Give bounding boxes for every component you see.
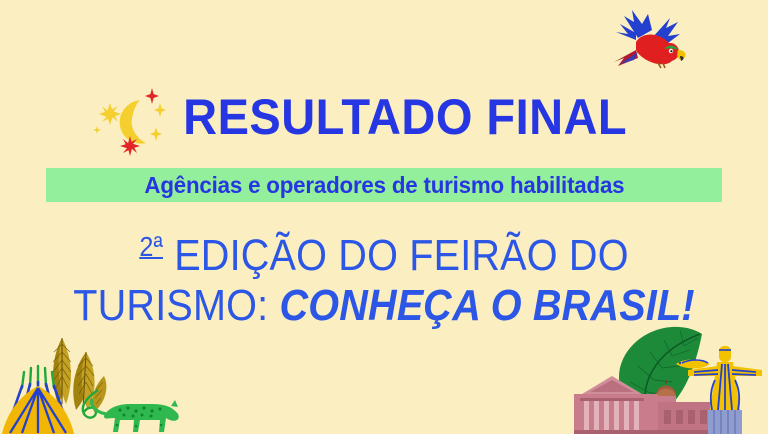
small-bird-icon bbox=[676, 360, 710, 369]
headline-line-2-plain: TURISMO: bbox=[73, 281, 279, 330]
teatro-amazonas-icon bbox=[574, 376, 710, 434]
headline: 2ª EDIÇÃO DO FEIRÃO DO TURISMO: CONHEÇA … bbox=[0, 222, 768, 331]
headline-ordinal: 2ª bbox=[139, 231, 163, 262]
poster-banner: RESULTADO FINAL Agências e operadores de… bbox=[0, 0, 768, 434]
headline-line-1-rest: EDIÇÃO DO FEIRÃO DO bbox=[163, 231, 629, 280]
macaw-icon bbox=[608, 8, 704, 80]
congress-building-icon bbox=[2, 366, 74, 434]
subtitle-text: Agências e operadores de turismo habilit… bbox=[144, 174, 624, 197]
jaguar-icon bbox=[92, 400, 179, 432]
page-title: RESULTADO FINAL bbox=[183, 92, 627, 142]
headline-emphasis: CONHEÇA O BRASIL! bbox=[280, 281, 695, 330]
tropical-leaf-icon bbox=[619, 327, 702, 415]
headline-line-1: 2ª EDIÇÃO DO FEIRÃO DO bbox=[38, 222, 729, 281]
headline-line-2: TURISMO: CONHEÇA O BRASIL! bbox=[38, 281, 729, 331]
title-row: RESULTADO FINAL bbox=[0, 92, 768, 142]
bottom-right-artwork bbox=[560, 318, 768, 434]
banana-leaves-icon bbox=[53, 338, 106, 412]
christ-redeemer-icon bbox=[688, 346, 762, 434]
subtitle-band: Agências e operadores de turismo habilit… bbox=[46, 168, 722, 202]
bottom-left-artwork bbox=[0, 332, 196, 434]
